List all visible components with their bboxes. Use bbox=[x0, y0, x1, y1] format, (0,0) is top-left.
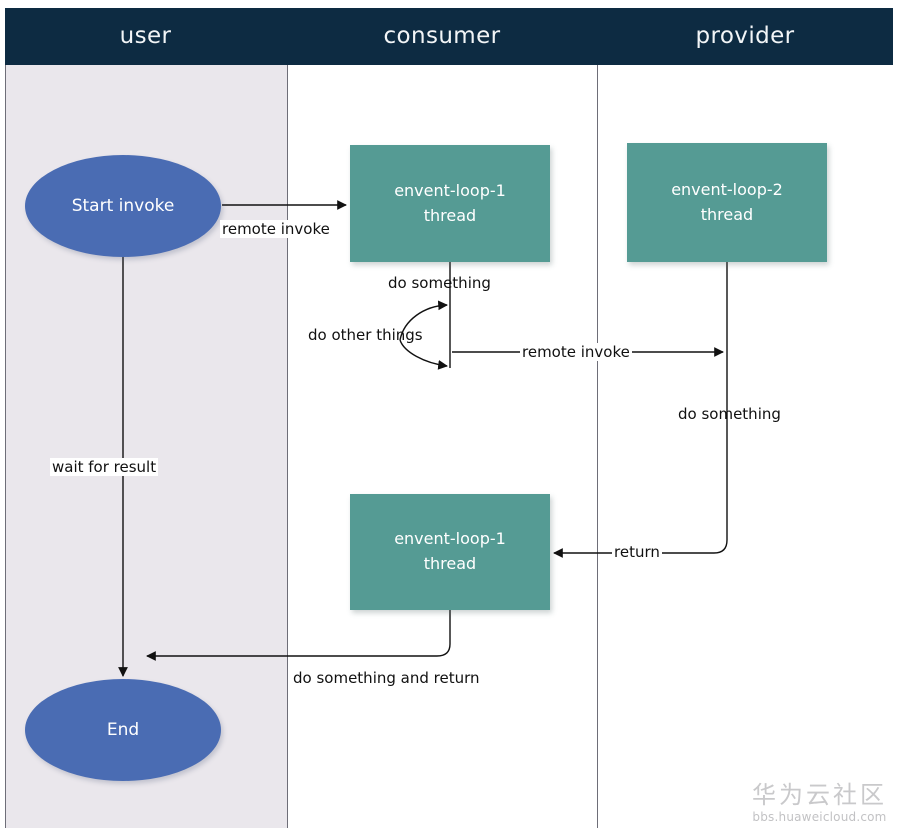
edge-label-return: return bbox=[612, 543, 662, 561]
node-event-loop-1-thread-top-label: envent-loop-1 thread bbox=[394, 179, 506, 229]
node-start-invoke[interactable]: Start invoke bbox=[25, 155, 221, 257]
edge-eventloop1b-to-end bbox=[147, 610, 450, 656]
edge-label-remote-invoke-start: remote invoke bbox=[220, 220, 332, 238]
node-event-loop-2-thread[interactable]: envent-loop-2 thread bbox=[627, 143, 827, 262]
node-event-loop-1-thread-bottom-label: envent-loop-1 thread bbox=[394, 527, 506, 577]
edge-label-do-something-consumer: do something bbox=[386, 274, 493, 292]
node-event-loop-1-thread-bottom[interactable]: envent-loop-1 thread bbox=[350, 494, 550, 610]
edge-label-remote-invoke-provider: remote invoke bbox=[520, 343, 632, 361]
swimlane-diagram: user consumer provider Start invoke bbox=[0, 0, 905, 836]
node-end[interactable]: End bbox=[25, 679, 221, 781]
node-event-loop-2-thread-label: envent-loop-2 thread bbox=[671, 178, 783, 228]
edge-label-wait-for-result: wait for result bbox=[50, 458, 158, 476]
node-event-loop-1-thread-top[interactable]: envent-loop-1 thread bbox=[350, 145, 550, 262]
node-start-invoke-label: Start invoke bbox=[72, 196, 175, 216]
edge-label-do-something-provider: do something bbox=[676, 405, 783, 423]
edge-label-do-something-and-return: do something and return bbox=[291, 669, 482, 687]
edge-label-do-other-things: do other things bbox=[306, 326, 425, 344]
node-end-label: End bbox=[107, 720, 139, 740]
